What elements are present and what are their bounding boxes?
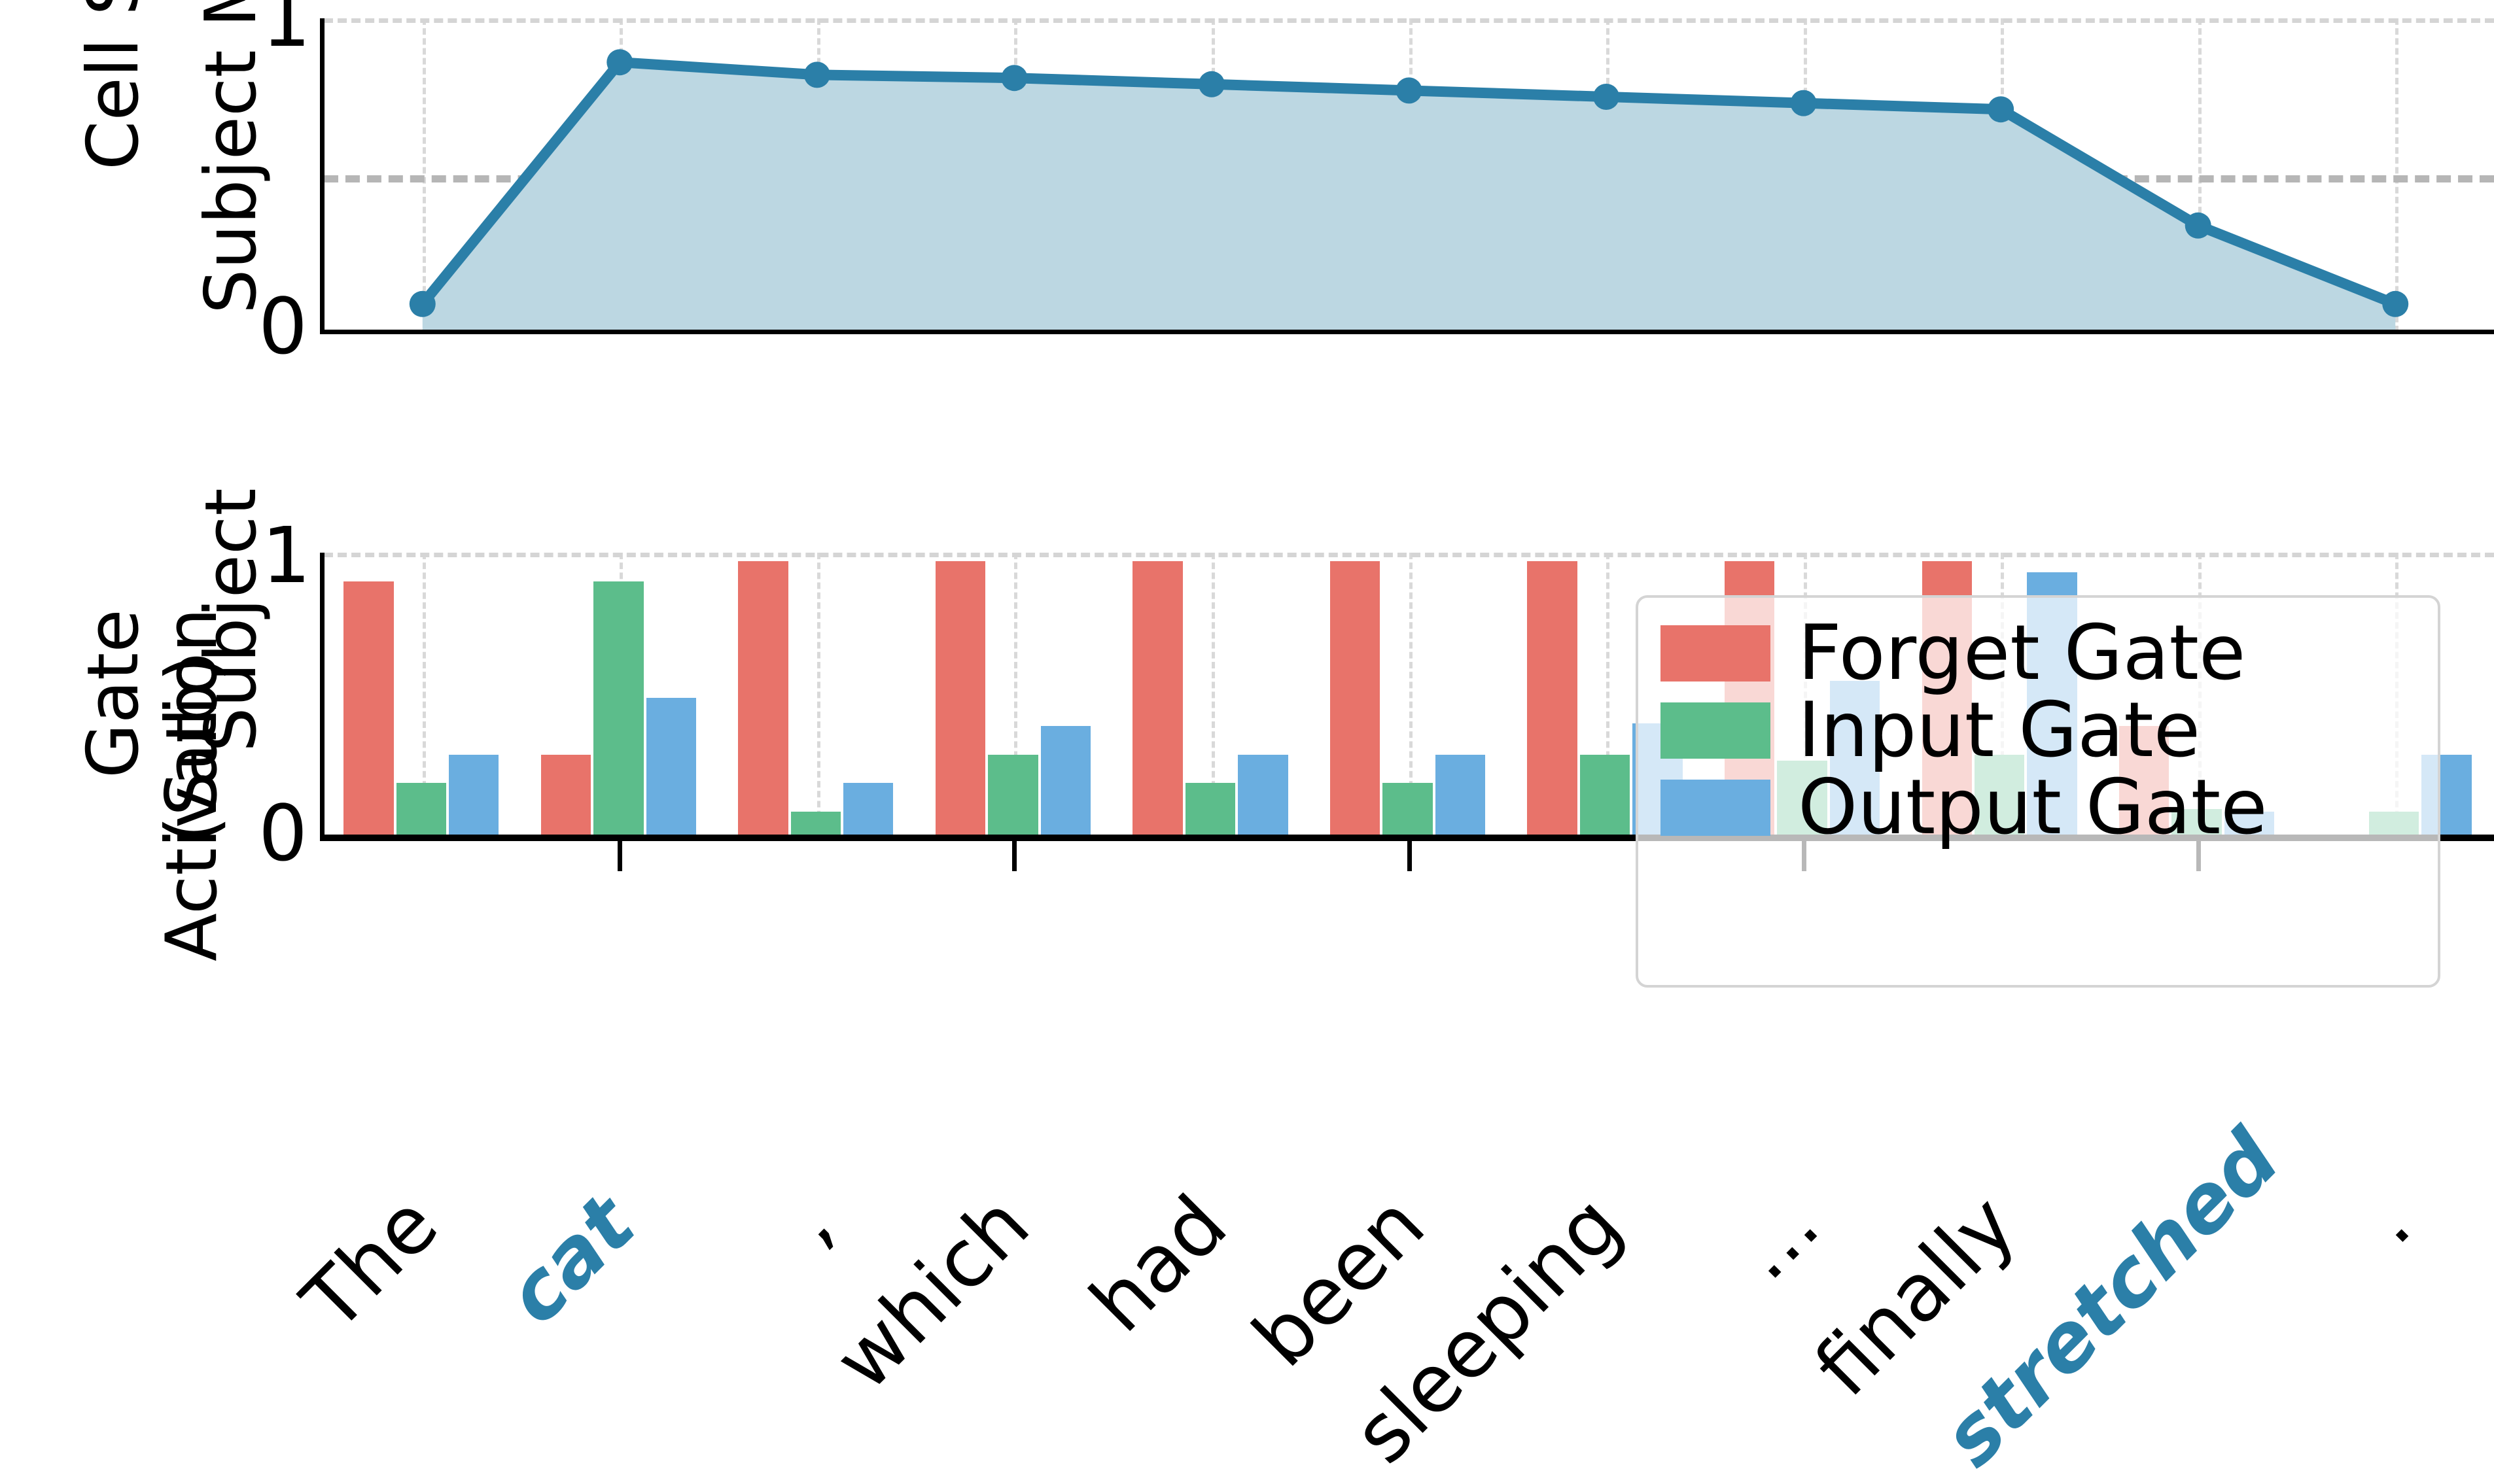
output-gate-swatch — [1660, 780, 1770, 836]
gate-bar — [1382, 783, 1432, 837]
forget-gate-swatch — [1660, 625, 1770, 682]
gate-bar — [449, 755, 499, 837]
gate-bar — [541, 755, 591, 837]
cell-state-panel — [324, 18, 2494, 332]
gate-bar — [988, 755, 1038, 837]
cell-state-marker — [1396, 77, 1422, 103]
legend-item-forget[interactable]: Forget Gate — [1660, 615, 2415, 692]
cell-state-marker — [1791, 90, 1817, 116]
bottom-ylabel-inner2: (Sub) — [157, 654, 228, 844]
gate-bar — [646, 698, 696, 837]
x-tick-mark — [1012, 841, 1017, 871]
cell-state-marker — [1593, 84, 1619, 110]
top-ylabel-inner: Subject Mem — [196, 0, 267, 314]
input-gate-swatch — [1660, 702, 1770, 759]
gate-bar — [1580, 755, 1630, 837]
cell-state-marker — [1001, 65, 1027, 91]
cell-state-marker — [2185, 213, 2211, 239]
x-tick-mark — [618, 841, 622, 871]
gate-bar — [738, 561, 788, 837]
gate-bar — [343, 581, 393, 838]
cell-state-marker — [1199, 71, 1225, 97]
bottom-ylabel-outer: Gate — [79, 609, 149, 778]
cell-state-marker — [2382, 291, 2408, 317]
legend-item-input[interactable]: Input Gate — [1660, 692, 2415, 769]
cell-state-marker — [1988, 96, 2014, 122]
legend-item-output[interactable]: Output Gate — [1660, 769, 2415, 846]
gate-bar — [791, 812, 841, 837]
cell-state-marker — [410, 291, 436, 317]
top-ylabel-outer: Cell State — [79, 0, 149, 170]
cell-state-marker — [606, 49, 633, 75]
top-yaxis-spine — [320, 18, 325, 334]
gate-bar — [1435, 755, 1485, 837]
legend-label-output: Output Gate — [1798, 770, 2268, 846]
cell-state-marker — [804, 61, 830, 88]
bottom-ytick-0: 0 — [258, 795, 307, 872]
legend-label-forget: Forget Gate — [1798, 615, 2245, 691]
x-tick-mark — [1407, 841, 1412, 871]
gate-bar — [936, 561, 985, 837]
gate-bar — [1041, 726, 1091, 837]
gate-legend[interactable]: Forget Gate Input Gate Output Gate — [1636, 595, 2440, 988]
gate-bar — [1186, 783, 1235, 837]
gate-bar — [593, 581, 643, 838]
top-xaxis-spine — [320, 330, 2494, 334]
gate-bar — [843, 783, 893, 837]
gate-bar — [1133, 561, 1182, 837]
bottom-yaxis-spine — [320, 553, 325, 838]
gate-bar — [1330, 561, 1380, 837]
gate-bar — [1238, 755, 1288, 837]
gate-bar — [1527, 561, 1577, 837]
gate-bar — [396, 783, 446, 837]
legend-label-input: Input Gate — [1798, 693, 2200, 768]
cell-state-series — [324, 18, 2494, 332]
